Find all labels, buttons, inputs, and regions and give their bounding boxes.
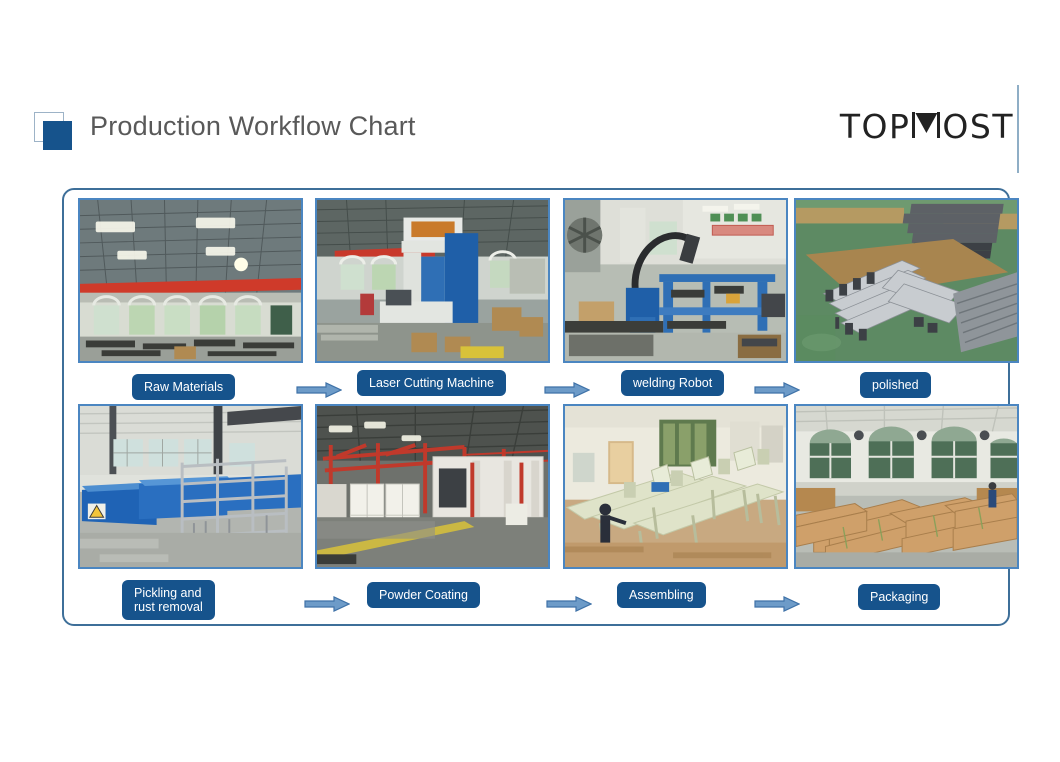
- page-title: Production Workflow Chart: [90, 111, 416, 142]
- m-right-bar: [937, 112, 940, 138]
- step-label-raw-materials[interactable]: Raw Materials: [132, 374, 235, 400]
- brand-text-ost: OST: [942, 107, 1014, 146]
- workflow-row-1: Raw Materials: [64, 198, 1012, 406]
- workflow-step-packaging[interactable]: Packaging: [794, 404, 1019, 612]
- slide-header: Production Workflow Chart TOP OST: [0, 95, 1060, 175]
- workflow-frame: Raw Materials: [62, 188, 1010, 626]
- photo-raw-materials: [78, 198, 303, 363]
- workflow-step-laser-cutting-machine[interactable]: Laser Cutting Machine: [315, 198, 550, 406]
- workflow-step-assembling[interactable]: Assembling: [563, 404, 788, 612]
- square-logo-icon: [34, 112, 72, 150]
- photo-packaging: [794, 404, 1019, 569]
- workflow-row-2: Pickling and rust removal: [64, 404, 1012, 612]
- step-label-packaging[interactable]: Packaging: [858, 584, 940, 610]
- brand-logo-topmost: TOP OST: [840, 107, 1014, 146]
- brand-m-glyph-icon: [911, 112, 941, 138]
- step-label-assembling[interactable]: Assembling: [617, 582, 706, 608]
- photo-laser-cutting-machine: [315, 198, 550, 363]
- m-left-bar: [912, 112, 915, 138]
- m-triangle: [915, 113, 937, 133]
- step-label-welding-robot[interactable]: welding Robot: [621, 370, 724, 396]
- step-label-laser-cutting-machine[interactable]: Laser Cutting Machine: [357, 370, 506, 396]
- photo-powder-coating: [315, 404, 550, 569]
- step-label-polished[interactable]: polished: [860, 372, 931, 398]
- brand-text-top: TOP: [840, 107, 911, 146]
- photo-assembling: [563, 404, 788, 569]
- step-label-powder-coating[interactable]: Powder Coating: [367, 582, 480, 608]
- workflow-step-pickling-rust-removal[interactable]: Pickling and rust removal: [78, 404, 303, 612]
- slide-canvas: Production Workflow Chart TOP OST: [0, 0, 1060, 762]
- logo-solid-square: [43, 121, 72, 150]
- step-label-pickling-rust-removal[interactable]: Pickling and rust removal: [122, 580, 215, 620]
- photo-polished: [794, 198, 1019, 363]
- photo-pickling-rust-removal: [78, 404, 303, 569]
- brand-divider: [1017, 85, 1019, 173]
- workflow-step-welding-robot[interactable]: welding Robot: [563, 198, 788, 406]
- workflow-step-powder-coating[interactable]: Powder Coating: [315, 404, 550, 612]
- photo-welding-robot: [563, 198, 788, 363]
- workflow-step-raw-materials[interactable]: Raw Materials: [78, 198, 303, 406]
- workflow-step-polished[interactable]: polished: [794, 198, 1019, 406]
